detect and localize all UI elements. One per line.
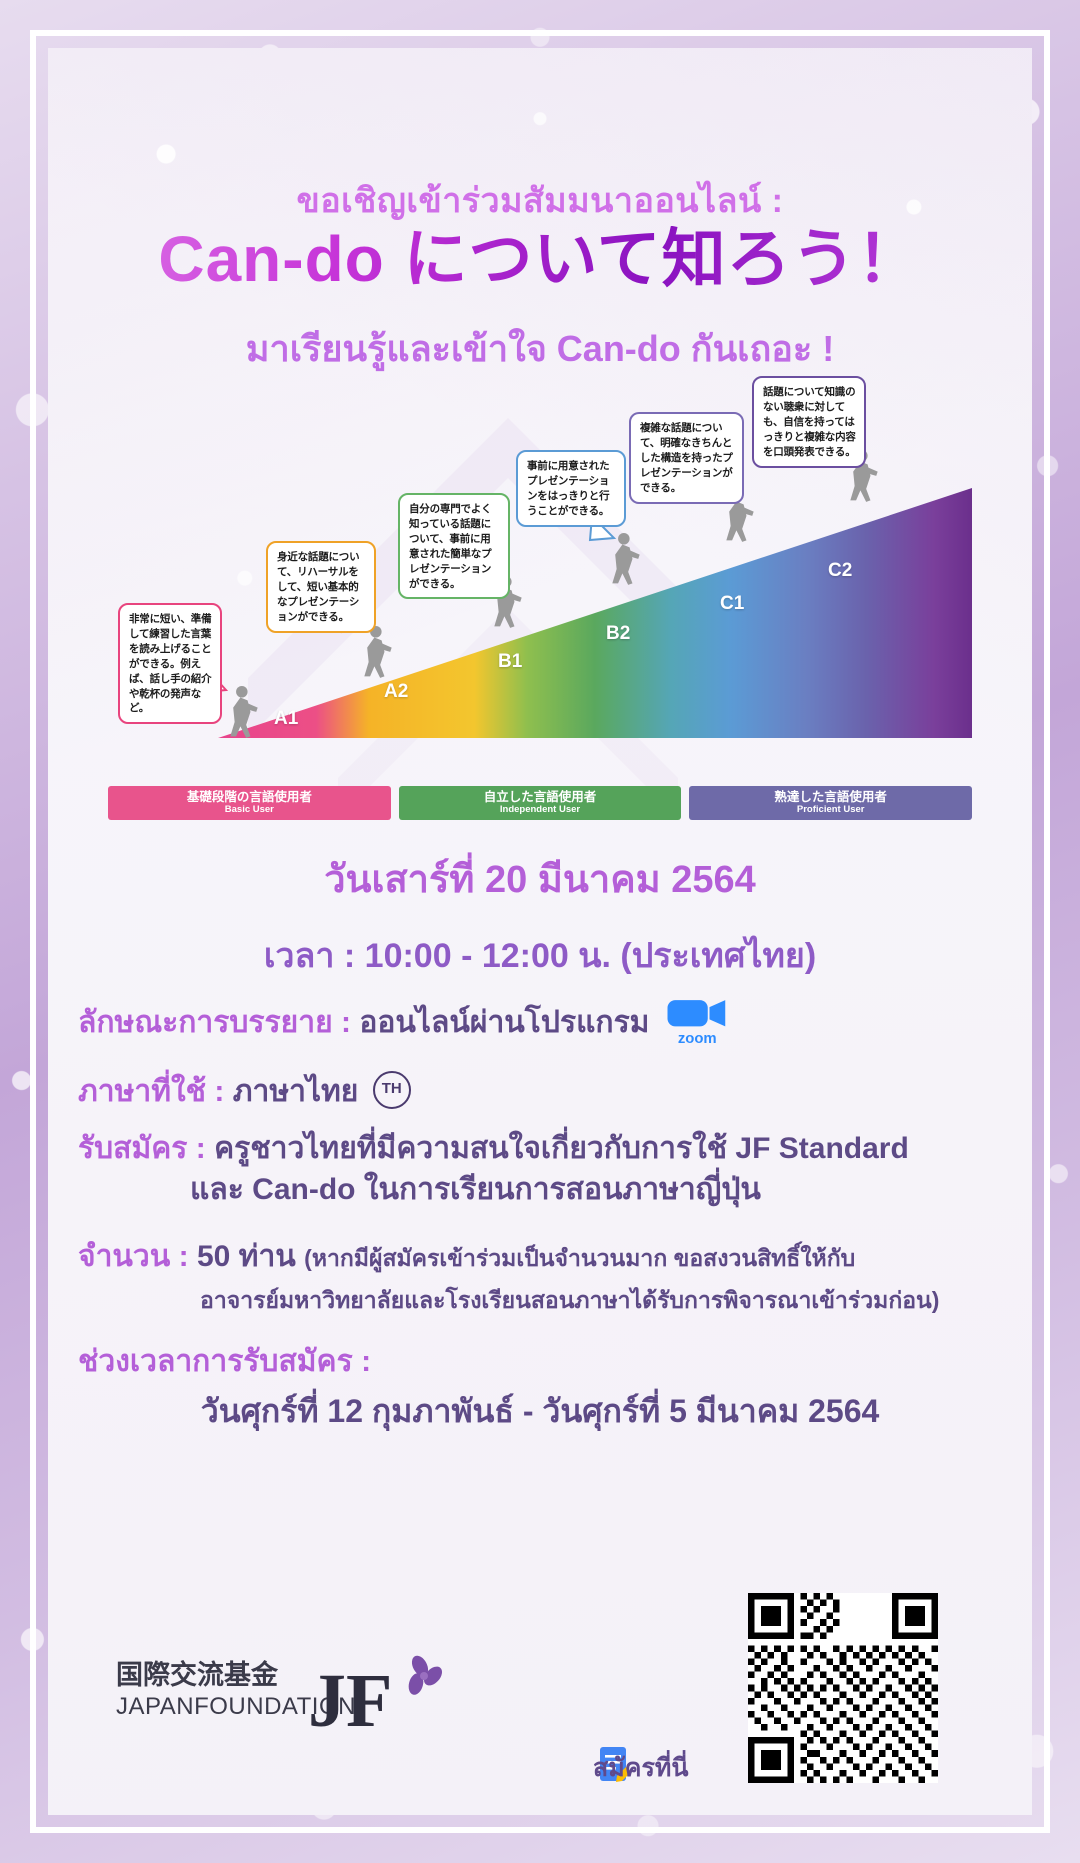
cefr-chart: 非常に短い、準備して練習した言葉を読み上げることができる。例えば、話し手の紹介や… [108, 368, 972, 778]
cefr-level-a2: A2 [384, 681, 408, 703]
legend-band-independent-en: Independent User [500, 805, 580, 816]
detail-format-row: ลักษณะการบรรยาย : ออนไลน์ผ่านโปรแกรม zoo… [78, 998, 1008, 1050]
detail-period-label: ช่วงเวลาการรับสมัคร : [78, 1345, 371, 1378]
detail-apply-line1: ครูชาวไทยที่มีความสนใจเกี่ยวกับการใช้ JF… [214, 1132, 909, 1165]
detail-format-label: ลักษณะการบรรยาย : [78, 1006, 351, 1039]
detail-apply-line2: และ Can-do ในการเรียนการสอนภาษาญี่ปุ่น [190, 1169, 761, 1210]
detail-period-row: ช่วงเวลาการรับสมัคร : [78, 1338, 1008, 1385]
cefr-level-a1: A1 [274, 708, 298, 730]
detail-format-value: ออนไลน์ผ่านโปรแกรม [359, 1006, 649, 1039]
legend-band-independent-jp: 自立した言語使用者 [484, 790, 597, 804]
cefr-level-b1: B1 [498, 651, 522, 673]
cefr-bubble-a1: 非常に短い、準備して練習した言葉を読み上げることができる。例えば、話し手の紹介や… [118, 603, 222, 724]
apply-here-label: สมัครที่นี่ [593, 1748, 688, 1788]
cefr-level-b2: B2 [606, 623, 630, 645]
legend-band-proficient: 熟達した言語使用者 Proficient User [689, 786, 972, 820]
detail-quota-note2: อาจารย์มหาวิทยาลัยและโรงเรียนสอนภาษาได้ร… [200, 1284, 939, 1316]
th-language-badge: TH [373, 1071, 411, 1109]
cefr-bubble-c1: 複雑な話題について、明確なきちんとした構造を持ったプレゼンテーションができる。 [629, 412, 744, 504]
jf-logo-jp: 国際交流基金 [116, 1659, 279, 1691]
detail-quota-value: 50 ท่าน [197, 1240, 296, 1273]
detail-apply-label: รับสมัคร : [78, 1132, 206, 1165]
legend-band-basic-jp: 基礎段階の言語使用者 [187, 790, 312, 804]
header-kicker: ขอเชิญเข้าร่วมสัมมนาออนไลน์ : [48, 173, 1032, 227]
svg-text:zoom: zoom [678, 1031, 717, 1047]
cefr-level-c1: C1 [720, 593, 744, 615]
detail-quota-row: จำนวน : 50 ท่าน (หากมีผู้สมัครเข้าร่วมเป… [78, 1236, 1008, 1320]
event-time: เวลา : 10:00 - 12:00 น. (ประเทศไทย) [48, 928, 1032, 982]
qr-code[interactable] [748, 1593, 938, 1783]
page-title: Can-do について知ろう！ [48, 226, 1032, 293]
svg-text:JF: JF [308, 1659, 392, 1743]
cefr-bubble-a2: 身近な話題について、リハーサルをして、短い基本的なプレゼンテーションができる。 [266, 541, 376, 633]
poster-content-card: ขอเชิญเข้าร่วมสัมมนาออนไลน์ : Can-do につい… [48, 48, 1032, 1815]
legend-band-proficient-jp: 熟達した言語使用者 [774, 790, 887, 804]
cefr-bubble-c2: 話題について知識のない聴衆に対しても、自信を持ってはっきりと複雑な内容を口頭発表… [752, 376, 866, 468]
detail-apply-row: รับสมัคร : ครูชาวไทยที่มีความสนใจเกี่ยวก… [78, 1128, 1008, 1211]
poster-root: ขอเชิญเข้าร่วมสัมมนาออนไลน์ : Can-do につい… [0, 0, 1080, 1863]
japan-foundation-logo: 国際交流基金 JAPANFOUNDATION JF [116, 1648, 446, 1768]
detail-quota-note1: (หากมีผู้สมัครเข้าร่วมเป็นจำนวนมาก ขอสงว… [304, 1245, 855, 1271]
detail-period-value: วันศุกร์ที่ 12 กุมภาพันธ์ - วันศุกร์ที่ … [201, 1393, 880, 1429]
legend-band-basic: 基礎段階の言語使用者 Basic User [108, 786, 391, 820]
legend-band-independent: 自立した言語使用者 Independent User [399, 786, 682, 820]
event-date: วันเสาร์ที่ 20 มีนาคม 2564 [48, 848, 1032, 909]
detail-quota-label: จำนวน : [78, 1240, 189, 1273]
detail-period-value-row: วันศุกร์ที่ 12 กุมภาพันธ์ - วันศุกร์ที่ … [48, 1386, 1032, 1437]
cefr-level-c2: C2 [828, 560, 852, 582]
detail-language-row: ภาษาที่ใช้ : ภาษาไทย TH [78, 1068, 1008, 1115]
legend-band-proficient-en: Proficient User [797, 805, 865, 816]
detail-language-label: ภาษาที่ใช้ : [78, 1075, 224, 1108]
cefr-legend: 基礎段階の言語使用者 Basic User 自立した言語使用者 Independ… [108, 786, 972, 820]
cefr-bubble-b2: 事前に用意されたプレゼンテーションをはっきりと行うことができる。 [516, 450, 626, 527]
zoom-icon: zoom [664, 996, 734, 1048]
cefr-bubble-b1: 自分の専門でよく知っている話題について、事前に用意された簡単なプレゼンテーション… [398, 493, 510, 599]
detail-language-value: ภาษาไทย [233, 1075, 359, 1108]
legend-band-basic-en: Basic User [225, 805, 274, 816]
